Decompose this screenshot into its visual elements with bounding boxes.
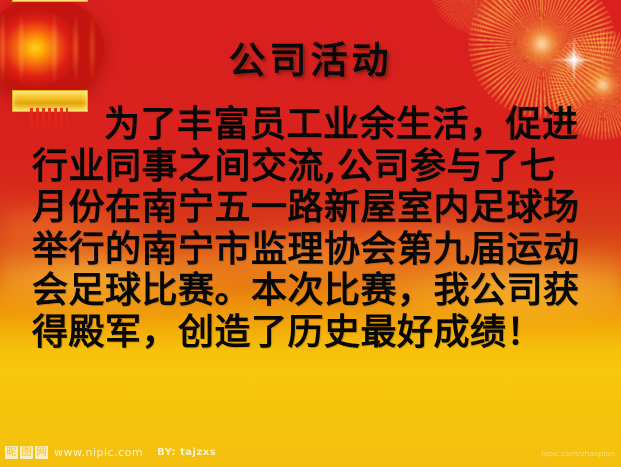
watermark-author: BY: tajzxs (157, 447, 216, 458)
nipic-logo-icon: 昵 图 网 (5, 446, 48, 459)
firework-burst-small-icon (430, 0, 522, 34)
body-line: 为了丰富员工业余生活，促进 (32, 104, 593, 146)
body-line: 月份在南宁五一路新屋室内足球场 (32, 187, 593, 229)
lantern-band-top (12, 0, 88, 2)
logo-char: 网 (35, 446, 48, 459)
body-line: 举行的南宁市监理协会第九届运动 (32, 229, 593, 271)
watermark-url: www.nipic.com (54, 446, 143, 459)
watermark-corner: nipic.com/zhaopian (541, 449, 615, 457)
body-line: 行业同事之间交流,公司参与了七 (32, 146, 593, 188)
body-line: 得殿军，创造了历史最好成绩！ (32, 312, 593, 354)
logo-char: 昵 (5, 446, 18, 459)
watermark-left: 昵 图 网 www.nipic.com BY: tajzxs (5, 446, 216, 459)
slide-body-text: 为了丰富员工业余生活，促进 行业同事之间交流,公司参与了七 月份在南宁五一路新屋… (32, 104, 593, 353)
slide-title: 公司活动 (0, 38, 621, 82)
logo-char: 图 (20, 446, 33, 459)
slide-canvas: 公司活动 为了丰富员工业余生活，促进 行业同事之间交流,公司参与了七 月份在南宁… (0, 0, 621, 467)
body-line: 会足球比赛。本次比赛，我公司获 (32, 270, 593, 312)
